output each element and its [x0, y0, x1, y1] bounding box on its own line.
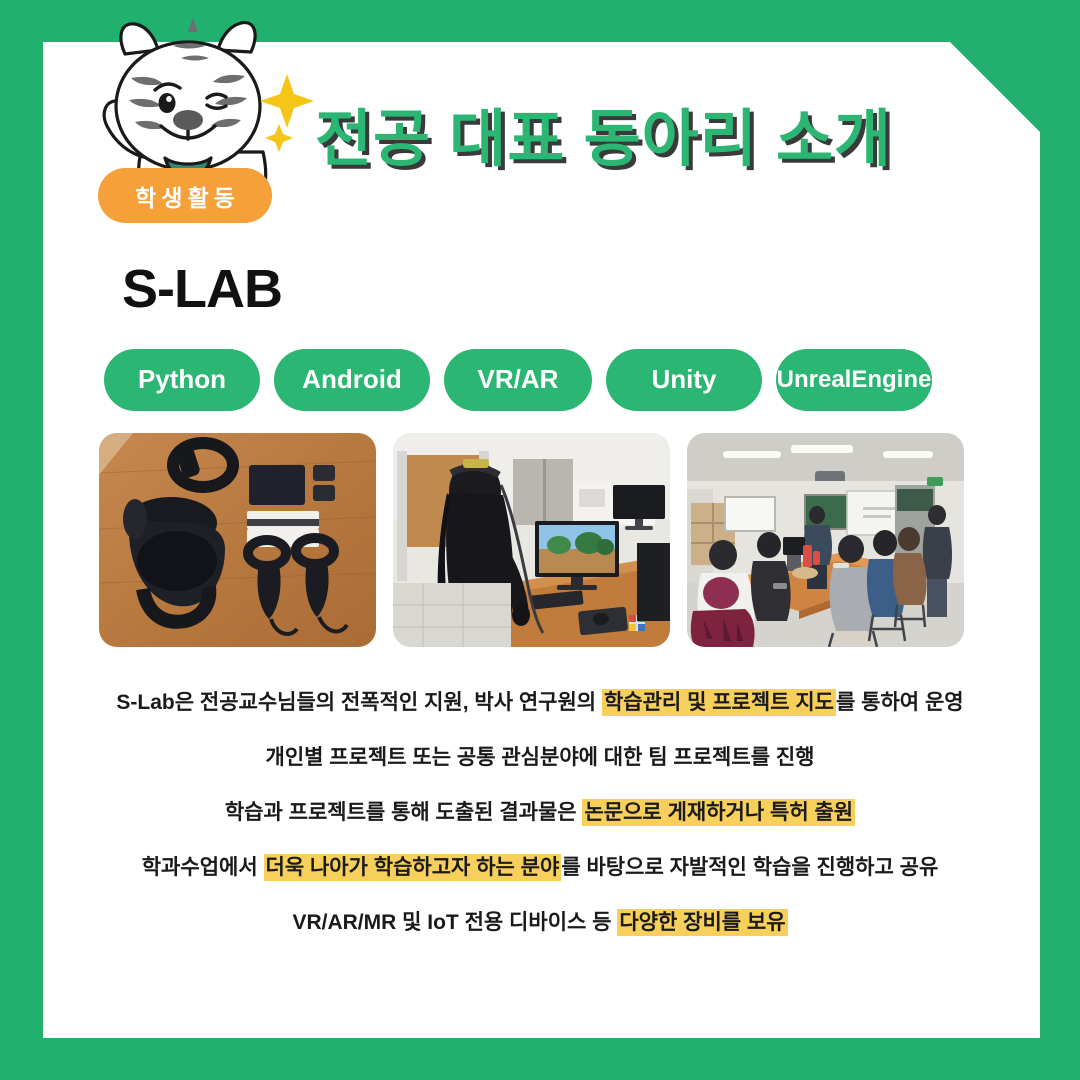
photo-vr-equipment	[99, 433, 376, 647]
plain-text: S-Lab은 전공교수님들의 전폭적인 지원, 박사 연구원의	[116, 691, 602, 714]
description-line: VR/AR/MR 및 IoT 전용 디바이스 등 다양한 장비를 보유	[0, 906, 1080, 961]
description-line: 학과수업에서 더욱 나아가 학습하고자 하는 분야를 바탕으로 자발적인 학습을…	[0, 851, 1080, 906]
student-activity-badge: 학생활동	[98, 168, 272, 223]
highlighted-text: 더욱 나아가 학습하고자 하는 분야	[264, 854, 562, 881]
tag-pill-python: Python	[104, 349, 260, 411]
plain-text: VR/AR/MR 및 IoT 전용 디바이스 등	[292, 911, 617, 934]
plain-text: 를 바탕으로 자발적인 학습을 진행하고 공유	[561, 856, 938, 879]
tag-pill-label: Unreal	[777, 367, 852, 392]
tag-pill-vr-ar: VR/AR	[444, 349, 592, 411]
description-list: S-Lab은 전공교수님들의 전폭적인 지원, 박사 연구원의 학습관리 및 프…	[0, 686, 1080, 961]
highlighted-text: 학습관리 및 프로젝트 지도	[602, 689, 836, 716]
page-title: 전공 대표 동아리 소개	[315, 88, 892, 178]
plain-text: 를 통하여 운영	[836, 691, 964, 714]
tag-pill-list: PythonAndroidVR/ARUnityUnrealEngine	[104, 349, 962, 411]
photo-seminar-room	[687, 433, 964, 647]
plain-text: 학과수업에서	[142, 856, 264, 879]
tag-pill-unity: Unity	[606, 349, 762, 411]
plain-text: 학습과 프로젝트를 통해 도출된 결과물은	[225, 801, 583, 824]
tag-pill-unreal-engine: UnrealEngine	[776, 349, 932, 411]
tag-pill-label: Python	[138, 366, 226, 393]
description-line: 학습과 프로젝트를 통해 도출된 결과물은 논문으로 게재하거나 특허 출원	[0, 796, 1080, 851]
tag-pill-label: Android	[302, 366, 402, 393]
badge-label: 학생활동	[130, 179, 240, 213]
tag-pill-label: Engine	[851, 367, 931, 392]
tag-pill-label: Unity	[652, 366, 717, 393]
tag-pill-android: Android	[274, 349, 430, 411]
photo-vr-lab-session	[393, 433, 670, 647]
highlighted-text: 다양한 장비를 보유	[617, 909, 787, 936]
description-line: 개인별 프로젝트 또는 공통 관심분야에 대한 팀 프로젝트를 진행	[0, 741, 1080, 796]
description-line: S-Lab은 전공교수님들의 전폭적인 지원, 박사 연구원의 학습관리 및 프…	[0, 686, 1080, 741]
plain-text: 개인별 프로젝트 또는 공통 관심분야에 대한 팀 프로젝트를 진행	[266, 746, 815, 769]
highlighted-text: 논문으로 게재하거나 특허 출원	[582, 799, 855, 826]
photo-gallery	[99, 433, 965, 647]
tag-pill-label: VR/AR	[478, 366, 559, 393]
club-name-heading: S-LAB	[122, 258, 282, 320]
